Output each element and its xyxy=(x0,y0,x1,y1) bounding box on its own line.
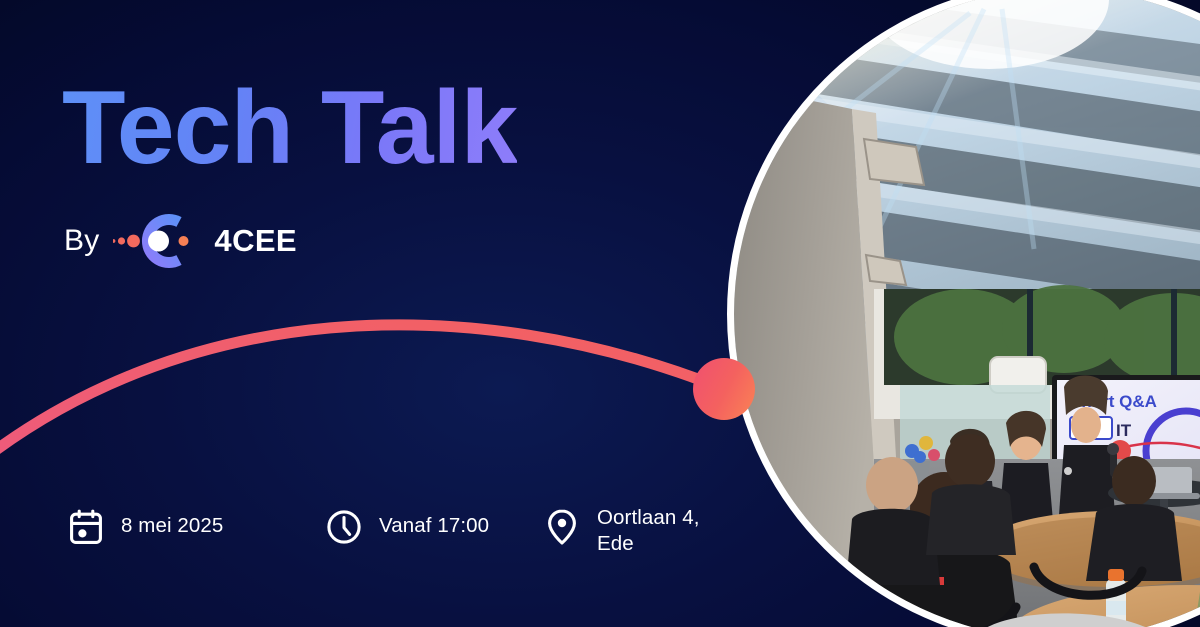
byline: By xyxy=(64,213,297,269)
event-photo-inner: Short Q&A AC IT 4CEE xyxy=(734,0,1200,627)
event-photo: Short Q&A AC IT 4CEE xyxy=(727,0,1200,627)
event-date-value: 8 mei 2025 xyxy=(121,505,223,539)
event-time: Vanaf 17:00 xyxy=(324,505,542,548)
event-details: 8 mei 2025 Vanaf 17:00 xyxy=(66,505,772,557)
calendar-icon xyxy=(66,506,106,548)
event-date: 8 mei 2025 xyxy=(66,505,324,548)
brand-logo: 4CEE xyxy=(113,213,297,269)
svg-text:IT: IT xyxy=(1116,421,1132,440)
accent-dot xyxy=(693,358,755,420)
clock-icon xyxy=(324,506,364,548)
brand-name: 4CEE xyxy=(214,223,297,259)
4cee-logo-icon xyxy=(113,213,205,269)
event-location-line1: Oortlaan 4, xyxy=(597,506,700,529)
page-title: Tech Talk xyxy=(62,72,517,184)
event-location-value: Oortlaan 4, Ede xyxy=(597,505,700,557)
event-location-line2: Ede xyxy=(597,532,634,555)
banner-content: Tech Talk By xyxy=(0,0,760,627)
event-photo-illustration: Short Q&A AC IT 4CEE xyxy=(734,0,1200,627)
map-pin-icon xyxy=(542,506,582,548)
by-label: By xyxy=(64,224,99,258)
tech-talk-event-banner: Tech Talk By xyxy=(0,0,1200,627)
event-time-value: Vanaf 17:00 xyxy=(379,505,489,539)
